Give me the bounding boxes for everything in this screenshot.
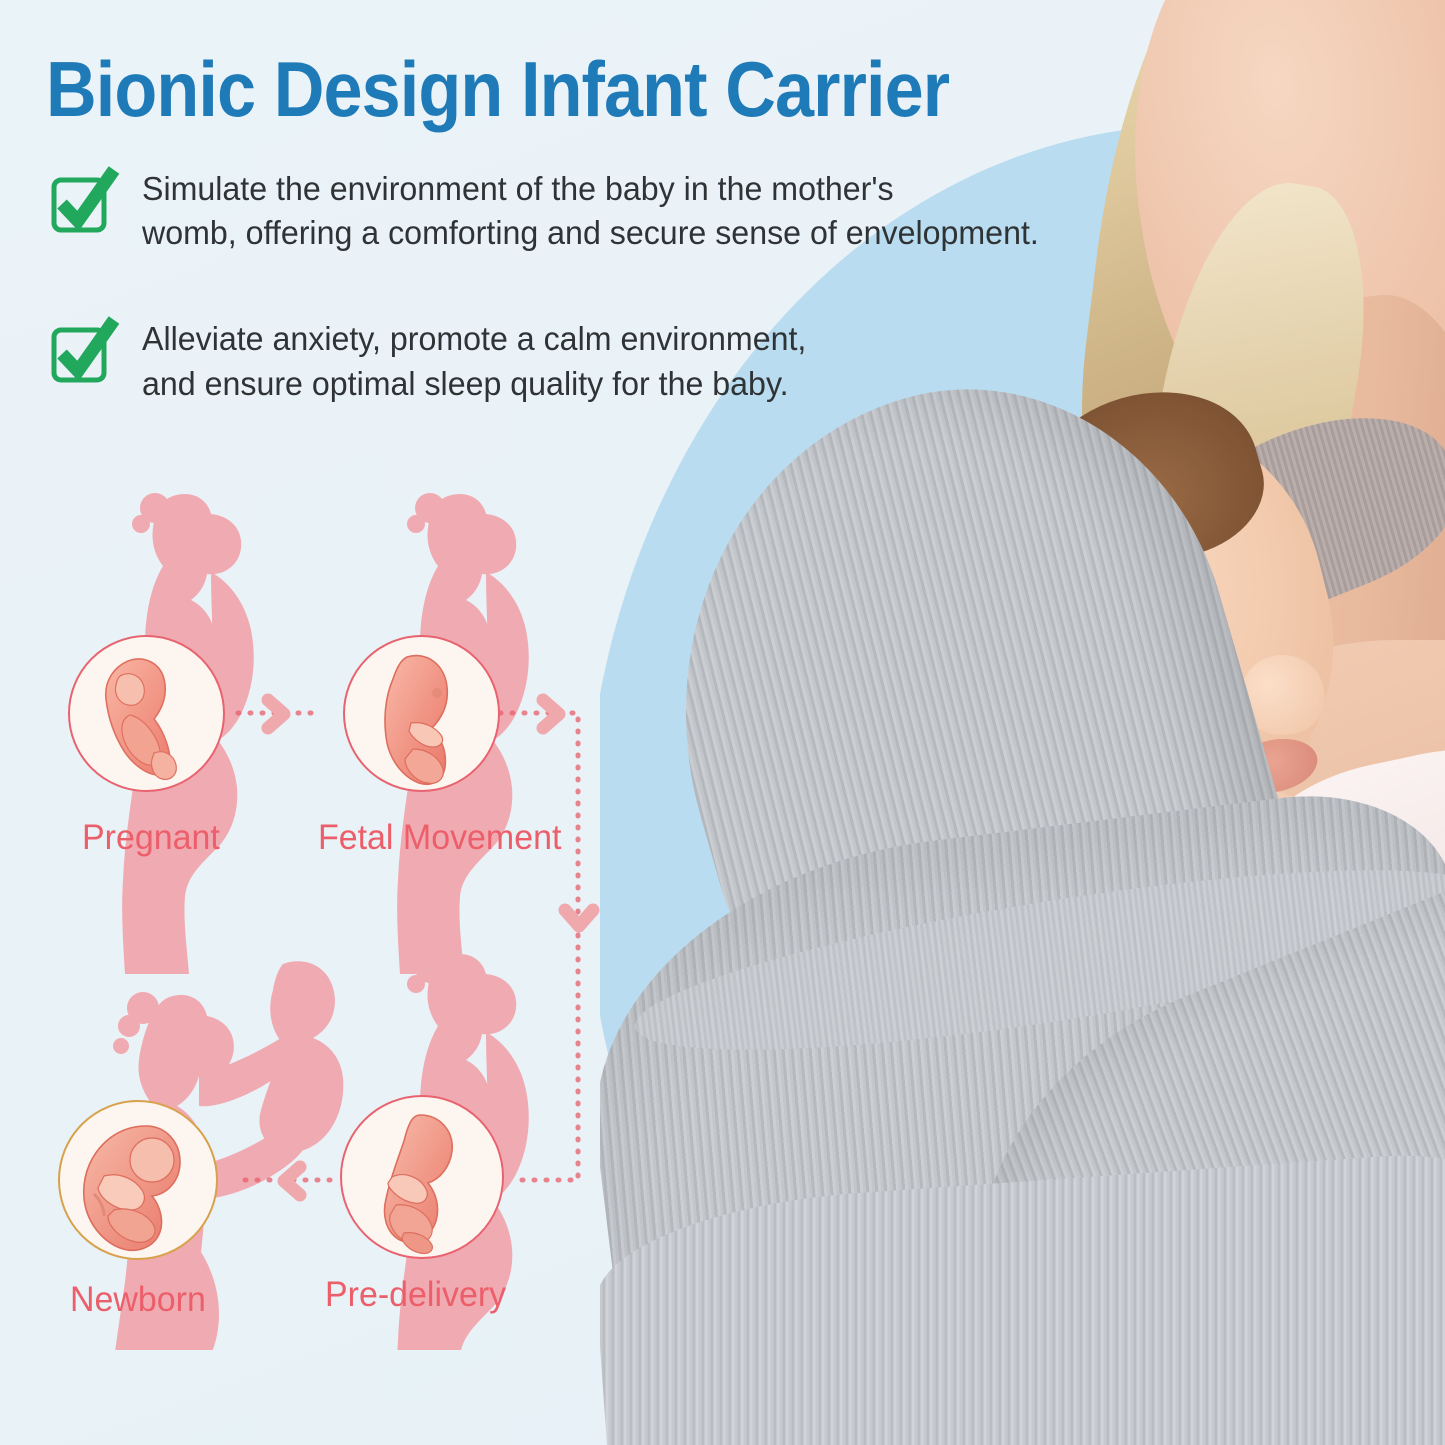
feature-bullet-line: and ensure optimal sleep quality for the… <box>142 363 806 407</box>
check-square-icon <box>52 324 110 382</box>
stage-label-pre-delivery: Pre-delivery <box>325 1275 506 1315</box>
infographic-root: Bionic Design Infant Carrier Simulate th… <box>0 0 1445 1445</box>
stage-circle-pre-delivery <box>340 1095 504 1259</box>
fetus-illustration-pre-delivery <box>342 1097 502 1257</box>
feature-bullet-line: Simulate the environment of the baby in … <box>142 168 1039 212</box>
embryo-illustration-pregnant <box>70 637 223 790</box>
stage-circle-newborn <box>58 1100 218 1260</box>
newborn-illustration <box>60 1102 216 1258</box>
check-square-icon <box>52 174 110 232</box>
feature-bullet-text: Simulate the environment of the baby in … <box>142 168 1039 256</box>
stage-circle-fetal-movement <box>343 635 500 792</box>
stage-circle-pregnant <box>68 635 225 792</box>
fetus-illustration-fetal-movement <box>345 637 498 790</box>
feature-bullet: Alleviate anxiety, promote a calm enviro… <box>52 318 1212 406</box>
feature-bullet-line: Alleviate anxiety, promote a calm enviro… <box>142 318 806 362</box>
pregnancy-stage-diagram: Pregnant Fetal Movement <box>0 470 640 1350</box>
chevron-right-icon <box>543 700 559 728</box>
stage-label-pregnant: Pregnant <box>82 818 220 858</box>
connector-fetal-to-predelivery <box>500 713 578 1180</box>
feature-bullet-line: womb, offering a comforting and secure s… <box>142 212 1039 256</box>
feature-bullet-text: Alleviate anxiety, promote a calm enviro… <box>142 318 806 406</box>
stage-label-fetal-movement: Fetal Movement <box>318 818 561 858</box>
chevron-left-icon <box>284 1167 300 1195</box>
feature-bullet: Simulate the environment of the baby in … <box>52 168 1212 256</box>
feature-bullet-list: Simulate the environment of the baby in … <box>52 168 1212 469</box>
chevron-right-icon <box>268 700 284 728</box>
page-title: Bionic Design Infant Carrier <box>46 44 949 135</box>
stage-label-newborn: Newborn <box>70 1280 206 1320</box>
